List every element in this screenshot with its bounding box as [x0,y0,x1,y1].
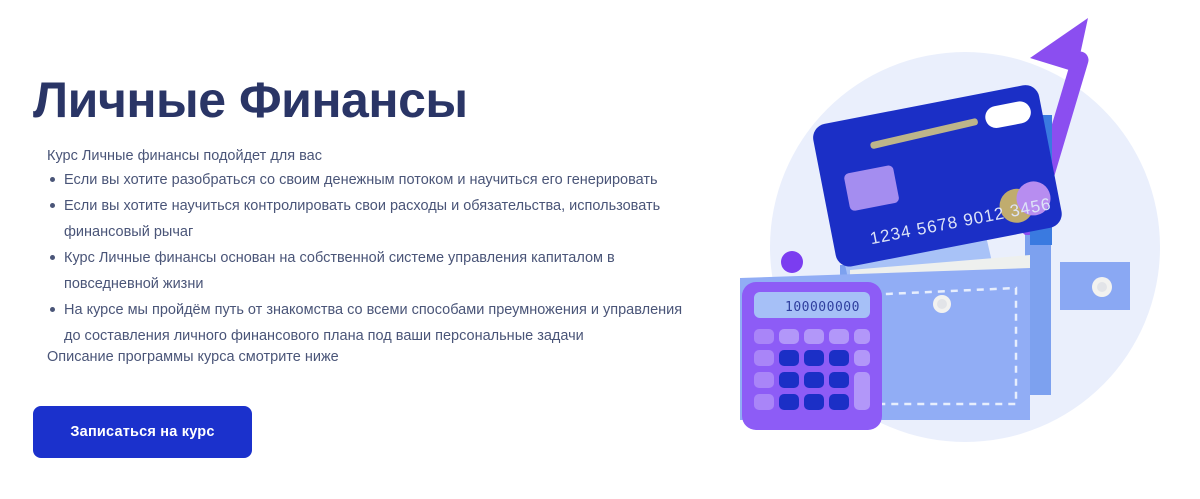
calculator-display-value: 100000000 [785,300,860,315]
benefits-list: Если вы хотите разобраться со своим дене… [30,167,700,349]
calculator-shape: 100000000 [742,282,882,430]
list-item: Курс Личные финансы основан на собственн… [30,245,700,297]
list-item-label: Курс Личные финансы основан на собственн… [64,250,615,292]
list-item-label: На курсе мы пройдём путь от знакомства с… [64,302,682,344]
personal-finance-illustration: 1234 5678 9012 3456 1000 [730,0,1200,499]
landing-hero: Личные Финансы Курс Личные финансы подой… [0,0,1200,499]
bullet-dot-icon [50,307,55,312]
closing-text: Описание программы курса смотрите ниже [47,346,339,368]
bullet-dot-icon [50,203,55,208]
list-item: Если вы хотите научиться контролировать … [30,193,700,245]
hero-text-column: Личные Финансы Курс Личные финансы подой… [0,0,730,499]
list-item: Если вы хотите разобраться со своим дене… [30,167,700,193]
list-item-label: Если вы хотите научиться контролировать … [64,198,660,240]
intro-text: Курс Личные финансы подойдет для вас [47,145,322,167]
list-item: На курсе мы пройдём путь от знакомства с… [30,297,700,349]
accent-dot-shape [781,251,803,273]
page-title: Личные Финансы [33,71,468,129]
list-item-label: Если вы хотите разобраться со своим дене… [64,172,658,188]
bullet-dot-icon [50,177,55,182]
wallet-strap-shape [1060,262,1130,310]
enroll-button[interactable]: Записаться на курс [33,406,252,458]
bullet-dot-icon [50,255,55,260]
